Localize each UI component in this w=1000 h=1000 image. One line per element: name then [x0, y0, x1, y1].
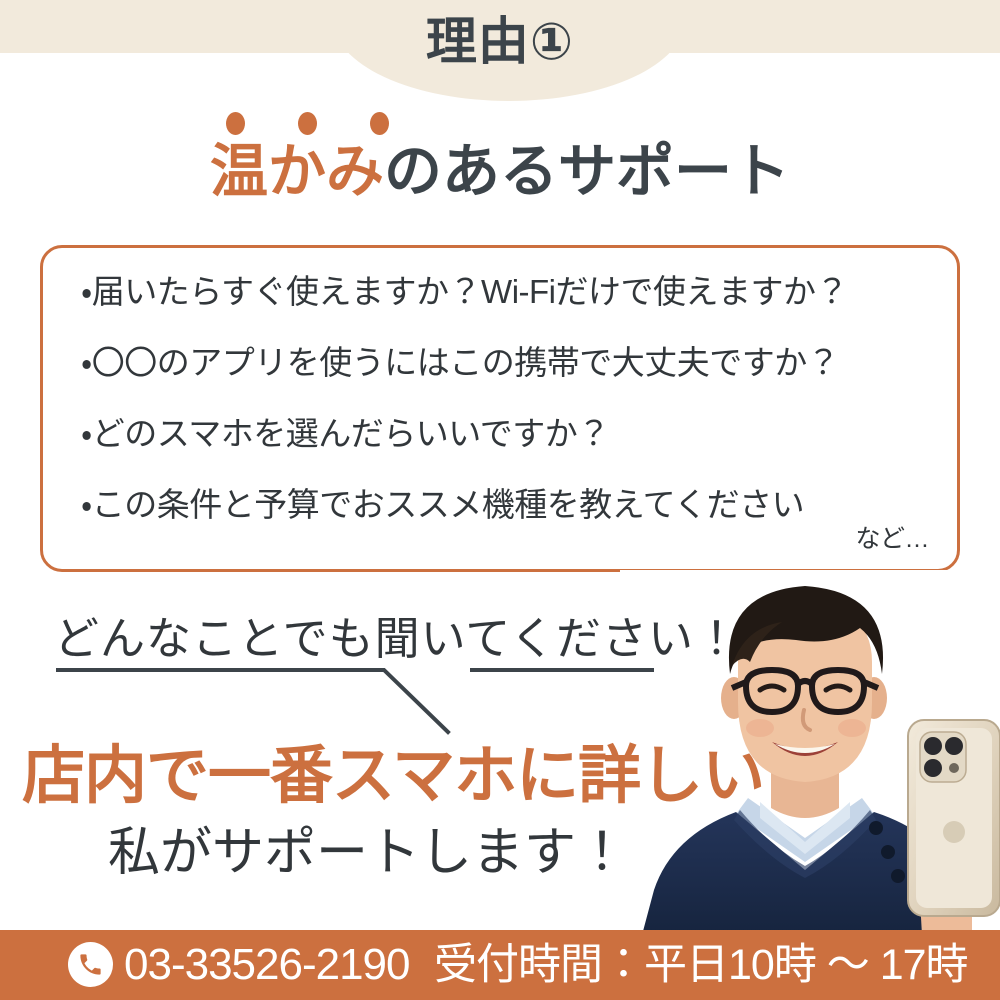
headline-orange: 店内で一番スマホに詳しい [22, 745, 764, 808]
decorative-dots [226, 112, 389, 135]
contact-footer: 03-33526-2190 受付時間：平日10時 〜 17時 [0, 930, 1000, 1000]
list-item: ・〇〇のアプリを使うにはこの携帯で大丈夫ですか？ [81, 346, 943, 379]
dot-icon [298, 112, 317, 135]
main-heading-rest: のあるサポート [384, 139, 790, 204]
ask-anything-text: どんなことでも聞いてください！ [54, 602, 740, 667]
phone-icon [68, 942, 113, 987]
question-list: ・届いたらすぐ使えますか？Wi-Fiだけで使えますか？ ・〇〇のアプリを使うには… [81, 275, 943, 521]
etc-note: など… [855, 519, 929, 555]
dot-icon [370, 112, 389, 135]
headline-sub: 私がサポートします！ [108, 827, 628, 879]
promo-graphic: 理由① 温かみのあるサポート ・届いたらすぐ使えますか？Wi-Fiだけで使えます… [0, 0, 1000, 1000]
phone-number[interactable]: 03-33526-2190 [124, 941, 409, 988]
list-item: ・どのスマホを選んだらいいですか？ [81, 417, 943, 450]
main-heading: 温かみのあるサポート [0, 140, 1000, 204]
speech-bubble-tail [40, 660, 680, 740]
main-heading-highlight: 温かみ [210, 139, 384, 204]
question-box: ・届いたらすぐ使えますか？Wi-Fiだけで使えますか？ ・〇〇のアプリを使うには… [40, 245, 960, 572]
list-item: ・この条件と予算でおススメ機種を教えてください [81, 488, 943, 521]
dot-icon [226, 112, 245, 135]
list-item: ・届いたらすぐ使えますか？Wi-Fiだけで使えますか？ [81, 275, 943, 308]
page-title: 理由① [0, 16, 1000, 67]
reception-hours: 受付時間：平日10時 〜 17時 [434, 942, 968, 989]
